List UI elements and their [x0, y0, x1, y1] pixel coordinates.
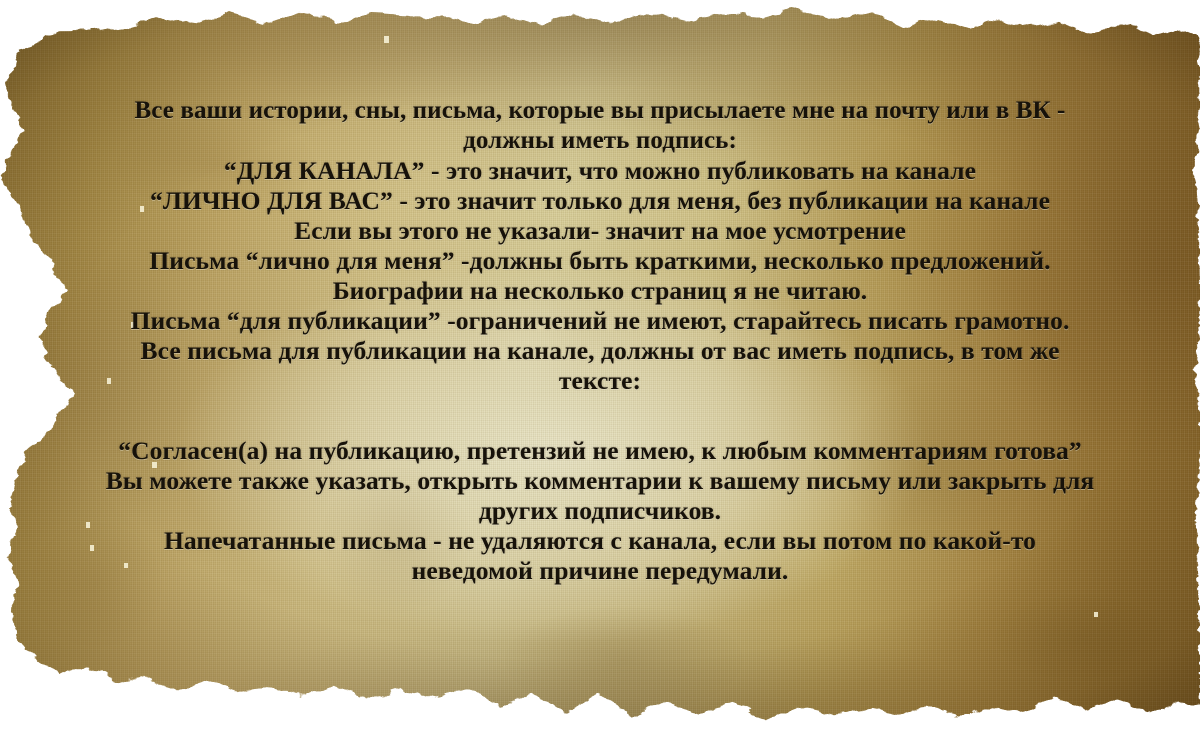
parchment-note: Все ваши истории, сны, письма, которые в…: [0, 0, 1200, 750]
note-line: Письма “лично для меня” -должны быть кра…: [26, 246, 1174, 276]
note-line: Письма “для публикации” -ограничений не …: [26, 306, 1174, 336]
paragraph-consent-block: “Согласен(а) на публикацию, претензий не…: [26, 436, 1174, 586]
note-line: других подписчиков.: [26, 496, 1174, 526]
note-line: Биографии на несколько страниц я не чита…: [26, 276, 1174, 306]
note-line: Напечатанные письма - не удаляются с кан…: [26, 526, 1174, 556]
note-line: Все ваши истории, сны, письма, которые в…: [26, 96, 1174, 126]
note-text-body: Все ваши истории, сны, письма, которые в…: [0, 0, 1200, 750]
note-line: Вы можете также указать, открыть коммент…: [26, 466, 1174, 496]
note-line: “ДЛЯ КАНАЛА” - это значит, что можно пуб…: [26, 156, 1174, 186]
note-line: неведомой причине передумали.: [26, 556, 1174, 586]
note-line: тексте:: [26, 366, 1174, 396]
note-line: “Согласен(а) на публикацию, претензий не…: [26, 436, 1174, 466]
note-line: Если вы этого не указали- значит на мое …: [26, 216, 1174, 246]
note-line: должны иметь подпись:: [26, 126, 1174, 156]
note-line: “ЛИЧНО ДЛЯ ВАС” - это значит только для …: [26, 186, 1174, 216]
note-line: Все письма для публикации на канале, дол…: [26, 336, 1174, 366]
paragraph-rules-intro: Все ваши истории, сны, письма, которые в…: [26, 96, 1174, 396]
paragraph-spacer: [26, 396, 1174, 436]
